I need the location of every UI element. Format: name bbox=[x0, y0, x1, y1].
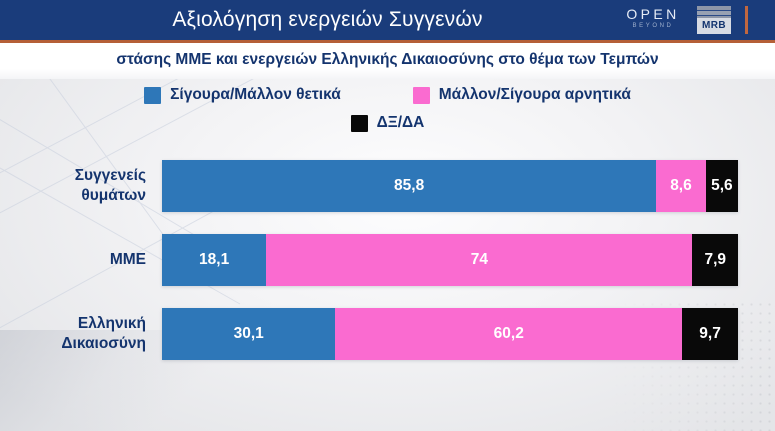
bar-segment-negative: 74 bbox=[266, 234, 692, 286]
page-subtitle: στάσης ΜΜΕ και ενεργειών Ελληνικής Δικαι… bbox=[0, 43, 775, 77]
bar-segment-positive: 18,1 bbox=[162, 234, 266, 286]
legend-item-dontknow: ΔΞ/ΔΑ bbox=[351, 114, 425, 132]
bar-segment-positive: 30,1 bbox=[162, 308, 335, 360]
legend-swatch-positive-icon bbox=[144, 87, 161, 104]
beyond-logo-text: BEYOND bbox=[617, 22, 689, 30]
chart-legend: Σίγουρα/Μάλλον θετικά Μάλλον/Σίγουρα αρν… bbox=[0, 86, 775, 132]
category-label-line: Ελληνική bbox=[78, 314, 146, 334]
category-label-line: ΜΜΕ bbox=[110, 250, 146, 270]
bar-segment-dontknow: 5,6 bbox=[706, 160, 738, 212]
category-label-line: Δικαιοσύνη bbox=[61, 334, 146, 354]
logo-divider bbox=[745, 6, 748, 34]
category-label-line: θυμάτων bbox=[81, 186, 146, 206]
bar-row: Ελληνική Δικαιοσύνη 30,1 60,2 9,7 bbox=[0, 308, 775, 360]
legend-swatch-negative-icon bbox=[413, 87, 430, 104]
bar-row: ΜΜΕ 18,1 74 7,9 bbox=[0, 234, 775, 286]
category-label-justice: Ελληνική Δικαιοσύνη bbox=[0, 308, 146, 360]
bar-track: 30,1 60,2 9,7 bbox=[162, 308, 738, 360]
stacked-bar-chart: Συγγενείς θυμάτων 85,8 8,6 5,6 ΜΜΕ 18,1 … bbox=[0, 160, 775, 382]
bar-row: Συγγενείς θυμάτων 85,8 8,6 5,6 bbox=[0, 160, 775, 212]
open-logo-text: OPEN bbox=[617, 7, 689, 22]
mrb-logo: MRB bbox=[697, 6, 731, 34]
mrb-logo-text: MRB bbox=[697, 18, 731, 34]
legend-label-dontknow: ΔΞ/ΔΑ bbox=[377, 114, 425, 132]
chart-slide: Αξιολόγηση ενεργειών Συγγενών OPEN BEYON… bbox=[0, 0, 775, 431]
category-label-media: ΜΜΕ bbox=[0, 234, 146, 286]
bar-segment-dontknow: 9,7 bbox=[682, 308, 738, 360]
mrb-logo-bars bbox=[697, 6, 731, 18]
legend-swatch-dontknow-icon bbox=[351, 115, 368, 132]
header-bar: Αξιολόγηση ενεργειών Συγγενών OPEN BEYON… bbox=[0, 0, 775, 40]
open-beyond-logo: OPEN BEYOND bbox=[617, 7, 689, 34]
bar-segment-negative: 60,2 bbox=[335, 308, 682, 360]
category-label-relatives: Συγγενείς θυμάτων bbox=[0, 160, 146, 212]
legend-label-negative: Μάλλον/Σίγουρα αρνητικά bbox=[439, 86, 631, 104]
bar-segment-negative: 8,6 bbox=[656, 160, 706, 212]
bar-segment-positive: 85,8 bbox=[162, 160, 656, 212]
bar-track: 85,8 8,6 5,6 bbox=[162, 160, 738, 212]
legend-item-negative: Μάλλον/Σίγουρα αρνητικά bbox=[413, 86, 631, 104]
bar-segment-dontknow: 7,9 bbox=[692, 234, 738, 286]
legend-label-positive: Σίγουρα/Μάλλον θετικά bbox=[170, 86, 341, 104]
legend-item-positive: Σίγουρα/Μάλλον θετικά bbox=[144, 86, 341, 104]
bar-track: 18,1 74 7,9 bbox=[162, 234, 738, 286]
category-label-line: Συγγενείς bbox=[75, 166, 146, 186]
